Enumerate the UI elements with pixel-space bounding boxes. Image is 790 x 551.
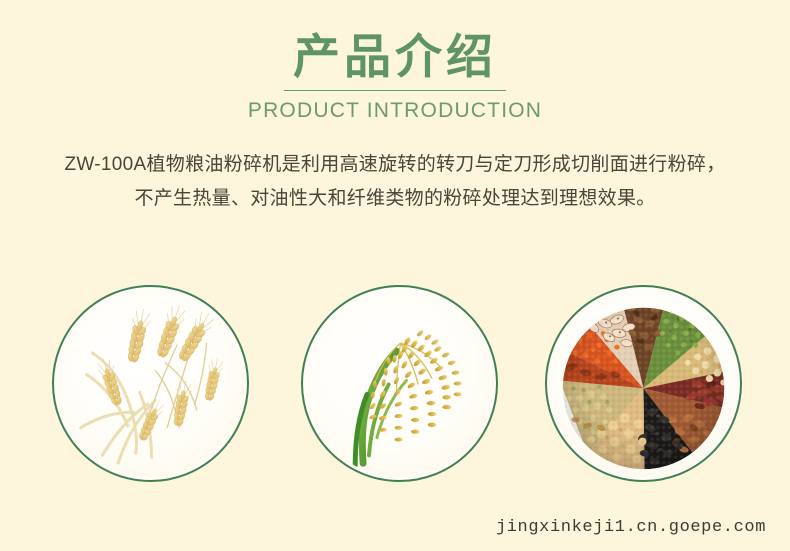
intro-paragraph: ZW-100A植物粮油粉碎机是利用高速旋转的转刀与定刀形成切削面进行粉碎，不产生… (62, 148, 728, 216)
title-divider (284, 90, 506, 91)
gallery-item-wheat (52, 285, 249, 482)
wheat-ears-photo (57, 290, 244, 477)
rice-stalk-photo (306, 290, 493, 477)
assorted-beans-photo (550, 290, 737, 477)
page-subtitle: PRODUCT INTRODUCTION (0, 98, 790, 124)
image-gallery (0, 285, 790, 485)
gallery-item-rice (301, 285, 498, 482)
site-watermark: jingxinkeji1.cn.goepe.com (496, 518, 766, 537)
product-introduction-page: 产品介绍 PRODUCT INTRODUCTION ZW-100A植物粮油粉碎机… (0, 0, 790, 551)
page-header: 产品介绍 PRODUCT INTRODUCTION (0, 30, 790, 124)
page-title: 产品介绍 (0, 30, 790, 84)
gallery-item-mixed-grains (545, 285, 742, 482)
